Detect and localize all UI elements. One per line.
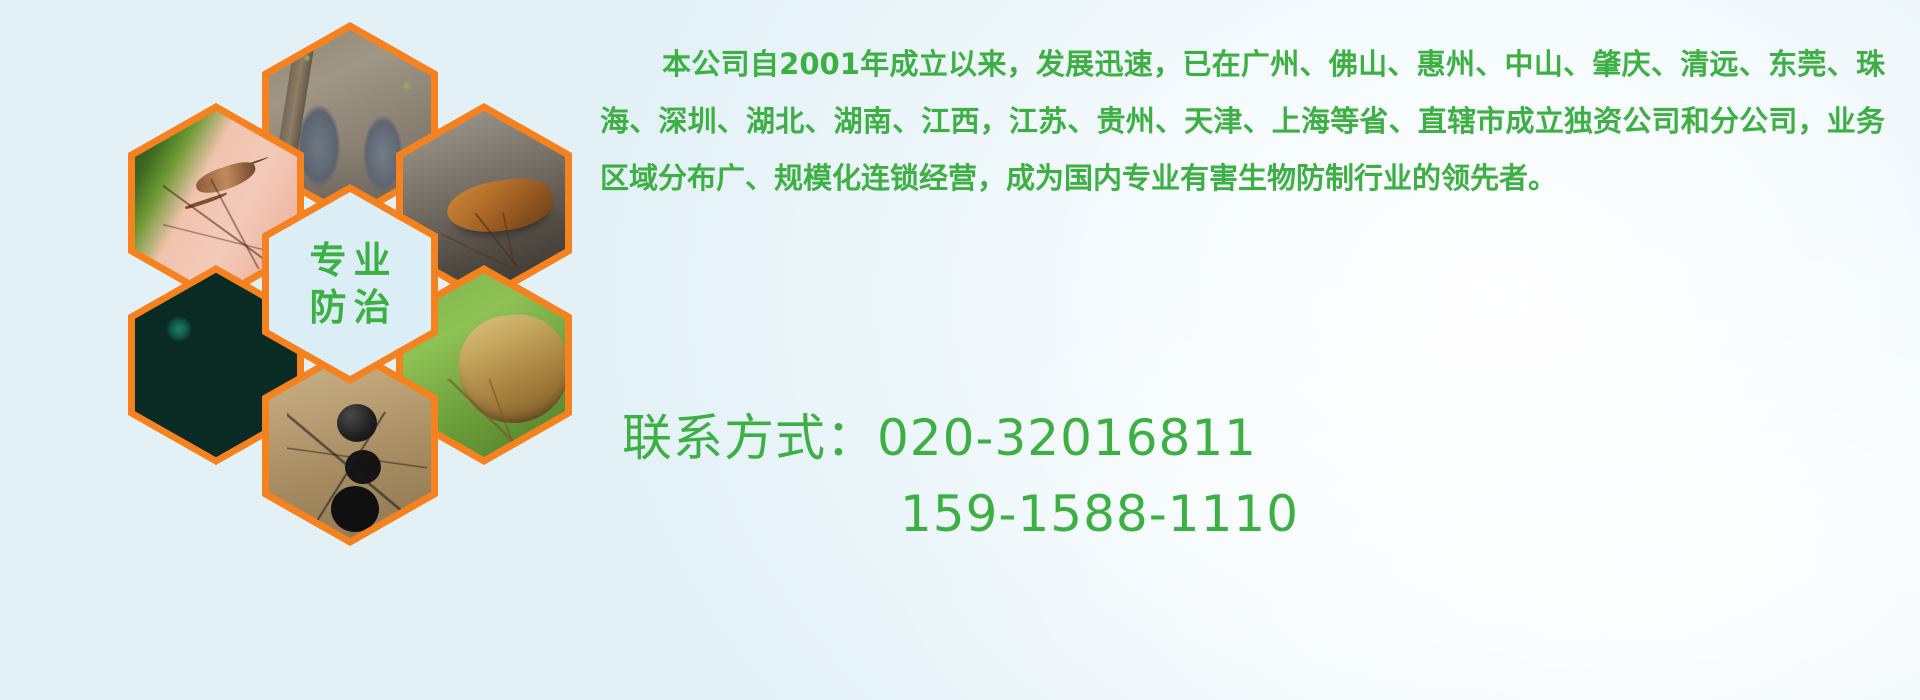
honeycomb-logo-cluster: 专业 防治 — [88, 8, 588, 578]
contact-phone-mobile[interactable]: 159-1588-1110 — [900, 485, 1299, 543]
contact-phone-landline[interactable]: 020-32016811 — [877, 409, 1257, 467]
company-intro-text: 本公司自2001年成立以来，发展迅速，已在广州、佛山、惠州、中山、肇庆、清远、东… — [600, 36, 1885, 207]
hex-logo-center-inner: 专业 防治 — [269, 192, 431, 376]
logo-slogan: 专业 防治 — [269, 192, 431, 376]
contact-line-mobile: 159-1588-1110 — [600, 476, 1900, 552]
contact-block: 联系方式：020-32016811 159-1588-1110 — [600, 400, 1900, 552]
contact-line-landline: 联系方式：020-32016811 — [600, 400, 1900, 476]
company-intro-block: 本公司自2001年成立以来，发展迅速，已在广州、佛山、惠州、中山、肇庆、清远、东… — [600, 36, 1890, 207]
contact-label: 联系方式： — [622, 409, 877, 467]
logo-slogan-line-1: 专业 — [303, 240, 398, 281]
pest-control-banner: 专业 防治 本公司自2001年成立以来，发展迅速，已在广州、佛山、惠州、中山、肇… — [0, 0, 1920, 700]
logo-slogan-line-2: 防治 — [303, 287, 398, 328]
